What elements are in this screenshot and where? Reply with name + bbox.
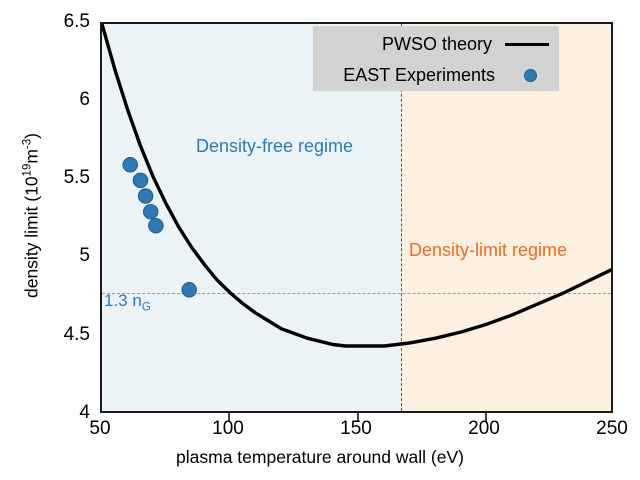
data-point: [144, 205, 158, 219]
legend-dot-swatch: [524, 69, 537, 82]
legend: PWSO theory EAST Experiments: [313, 26, 559, 91]
legend-label-east-experiments: EAST Experiments: [343, 65, 495, 86]
y-axis-label-exp1: 19: [22, 164, 34, 177]
y-axis-label-exp2: -3: [22, 139, 34, 149]
density-limit-regime-label: Density-limit regime: [409, 240, 567, 261]
figure: 6.5 6 5.5 5 4.5 4 50 100 150 200 250 pla…: [0, 0, 640, 480]
y-axis-label: density limit (1019m-3): [22, 16, 43, 416]
xtick-label-150: 150: [316, 418, 396, 440]
data-point: [182, 283, 196, 297]
data-point: [138, 189, 152, 203]
legend-line-swatch: [505, 43, 549, 46]
legend-label-pwso-theory: PWSO theory: [382, 34, 492, 55]
data-point: [123, 158, 137, 172]
greenwald-threshold-label: 1.3 nG: [104, 291, 151, 313]
y-axis-label-pre: density limit (10: [22, 176, 42, 298]
density-free-regime-label: Density-free regime: [196, 136, 353, 157]
xtick-label-200: 200: [444, 418, 524, 440]
x-axis-label: plasma temperature around wall (eV): [0, 447, 640, 468]
greenwald-threshold-text: 1.3 n: [104, 291, 142, 310]
xtick-label-250: 250: [572, 418, 640, 440]
legend-entry-pwso-theory: PWSO theory: [313, 29, 559, 60]
xtick-label-50: 50: [60, 418, 140, 440]
y-axis-label-post: ): [22, 133, 42, 139]
data-point: [149, 219, 163, 233]
greenwald-threshold-subscript: G: [142, 301, 151, 313]
xtick-label-100: 100: [188, 418, 268, 440]
data-point: [133, 173, 147, 187]
legend-entry-east-experiments: EAST Experiments: [313, 60, 559, 91]
y-axis-label-mid: m: [22, 149, 42, 164]
